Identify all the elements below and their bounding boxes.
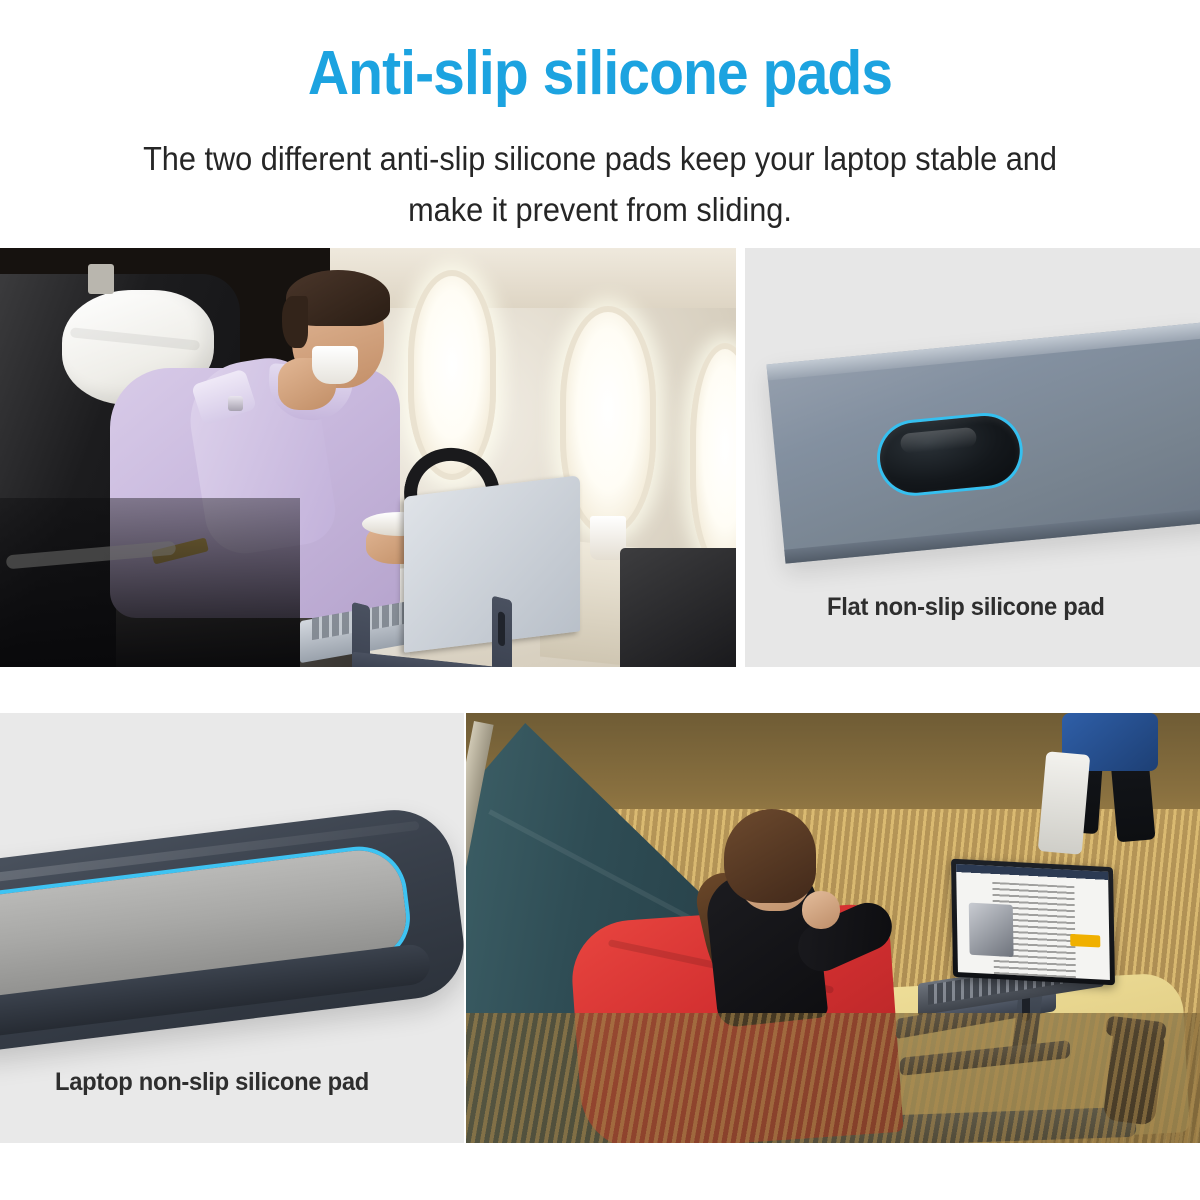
bar-top-edge xyxy=(766,322,1200,380)
seat-shadow xyxy=(0,498,300,667)
espresso-cup xyxy=(312,346,358,384)
cufflink xyxy=(228,396,243,411)
product-feature-graphic: Anti-slip silicone pads The two differen… xyxy=(0,0,1200,1200)
laptop-stand xyxy=(352,604,532,667)
caption-laptop-pad: Laptop non-slip silicone pad xyxy=(55,1068,369,1097)
panel-airplane-lifestyle xyxy=(0,248,736,667)
stand-base-rail xyxy=(352,652,512,667)
page-image xyxy=(969,903,1014,957)
headrest-tag xyxy=(88,264,114,294)
foreground-grass xyxy=(466,1013,1200,1143)
aluminum-bar xyxy=(766,322,1200,563)
panel-laptop-pad-product: Laptop non-slip silicone pad xyxy=(0,713,464,1143)
header: Anti-slip silicone pads The two differen… xyxy=(0,0,1200,248)
stand-slot xyxy=(498,611,505,647)
woman-hair xyxy=(724,809,816,903)
passenger-hair-side xyxy=(282,296,308,348)
pad-highlight xyxy=(900,427,978,454)
page-subtitle: The two different anti-slip silicone pad… xyxy=(116,133,1083,235)
panel-flat-pad-product: Flat non-slip silicone pad xyxy=(745,248,1200,667)
flat-silicone-pad xyxy=(877,413,1023,496)
laptop-screen xyxy=(951,859,1115,986)
caption-flat-pad: Flat non-slip silicone pad xyxy=(827,593,1105,622)
seat-monitor xyxy=(620,548,736,667)
stand-riser xyxy=(492,596,512,667)
panel-camping-lifestyle xyxy=(466,713,1200,1143)
browser-page xyxy=(956,864,1110,980)
page-title: Anti-slip silicone pads xyxy=(48,38,1152,109)
stand-channel xyxy=(0,803,464,1053)
bar-bottom-edge xyxy=(784,508,1200,564)
cabin-ceiling xyxy=(330,248,736,308)
hiker-bag xyxy=(1038,751,1091,854)
page-badge xyxy=(1070,934,1100,948)
woman-hand xyxy=(802,891,840,929)
